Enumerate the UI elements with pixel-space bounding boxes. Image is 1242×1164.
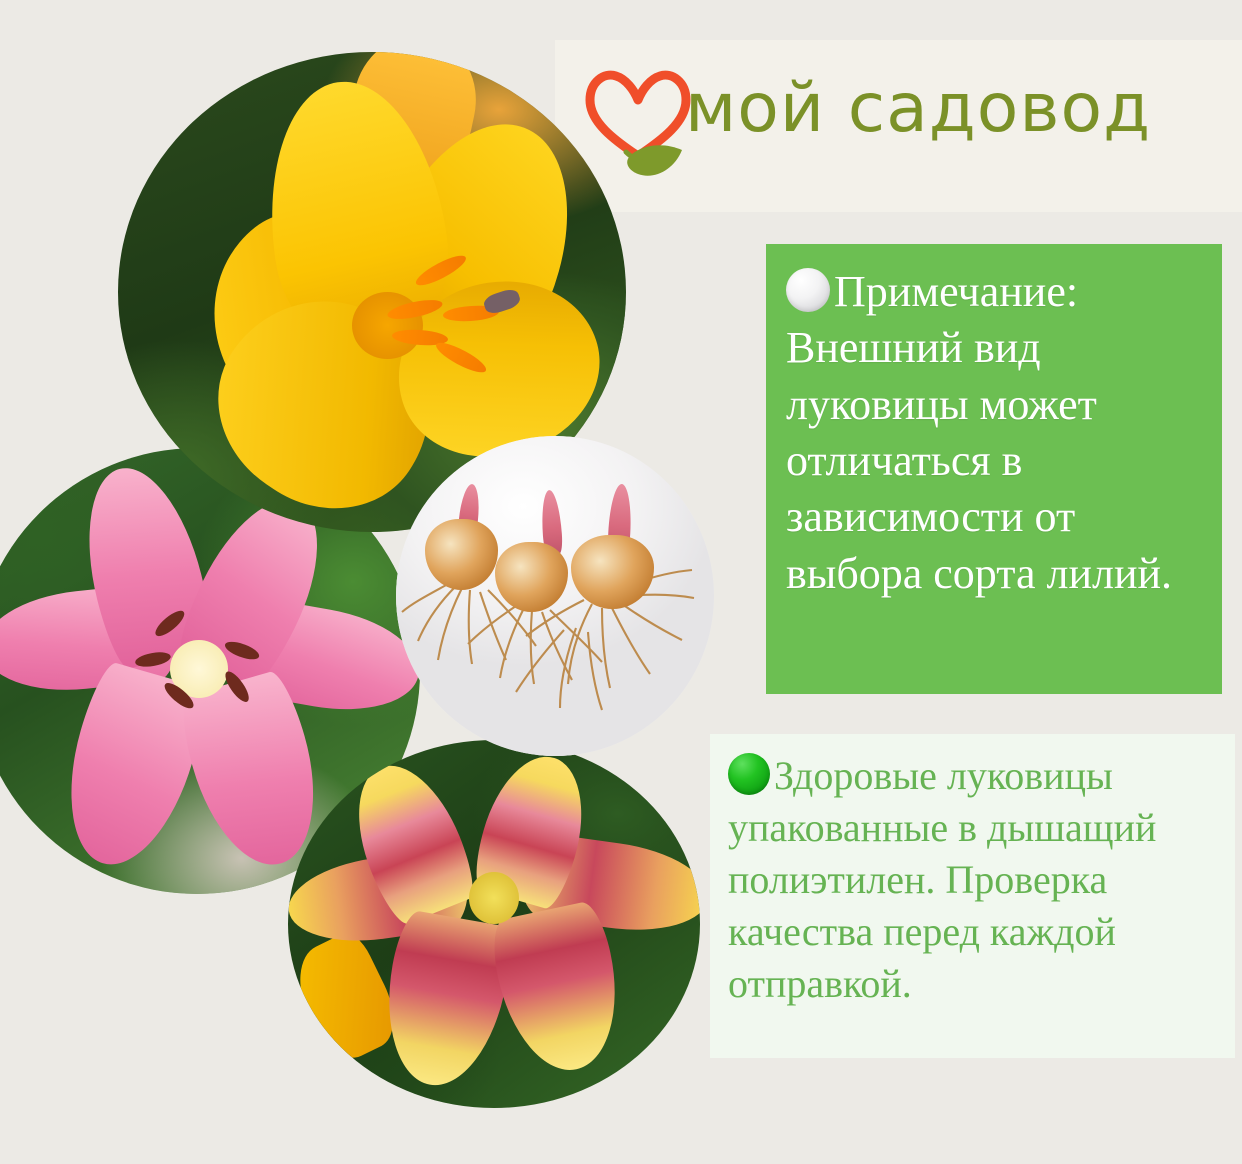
quality-panel: Здоровые луковицы упакованные в дышащий … xyxy=(710,734,1235,1058)
lily-bulbs-photo xyxy=(396,436,714,756)
quality-full-text: Здоровые луковицы упакованные в дышащий … xyxy=(728,753,1156,1006)
quality-text: Здоровые луковицы упакованные в дышащий … xyxy=(728,750,1217,1010)
white-circle-icon xyxy=(786,268,830,312)
green-circle-icon xyxy=(728,753,770,795)
note-text: Примечание: Внешний вид луковицы может о… xyxy=(786,264,1200,602)
note-full-text: Примечание: Внешний вид луковицы может о… xyxy=(786,267,1172,598)
bicolor-lily-photo xyxy=(288,740,700,1108)
product-info-banner: мой садовод Примечание: Внешний вид луко… xyxy=(0,0,1242,1164)
logo-text: мой садовод xyxy=(685,70,1230,148)
brand-logo: мой садовод xyxy=(555,40,1242,212)
note-panel: Примечание: Внешний вид луковицы может о… xyxy=(766,244,1222,694)
